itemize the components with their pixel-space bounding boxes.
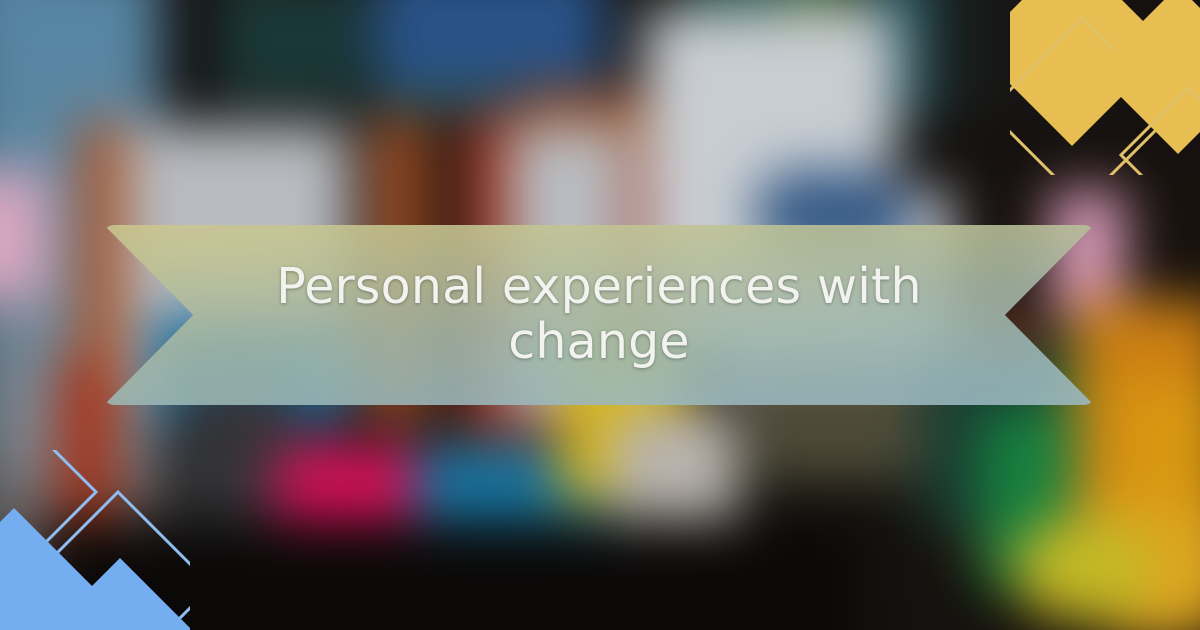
- bg-blob: [1110, 380, 1200, 510]
- share-card-canvas: Personal experiences with change: [0, 0, 1200, 630]
- page-title: Personal experiences with change: [269, 260, 929, 370]
- bg-blob: [375, 0, 605, 85]
- bg-blob: [0, 170, 50, 300]
- bg-blob: [930, 0, 1200, 160]
- ribbon-text-area: Personal experiences with change: [193, 225, 1005, 405]
- bg-blob: [1015, 520, 1155, 620]
- bg-blob: [610, 410, 740, 520]
- bg-blob: [40, 520, 860, 630]
- title-ribbon-banner: Personal experiences with change: [104, 225, 1094, 405]
- bg-blob: [220, 0, 370, 100]
